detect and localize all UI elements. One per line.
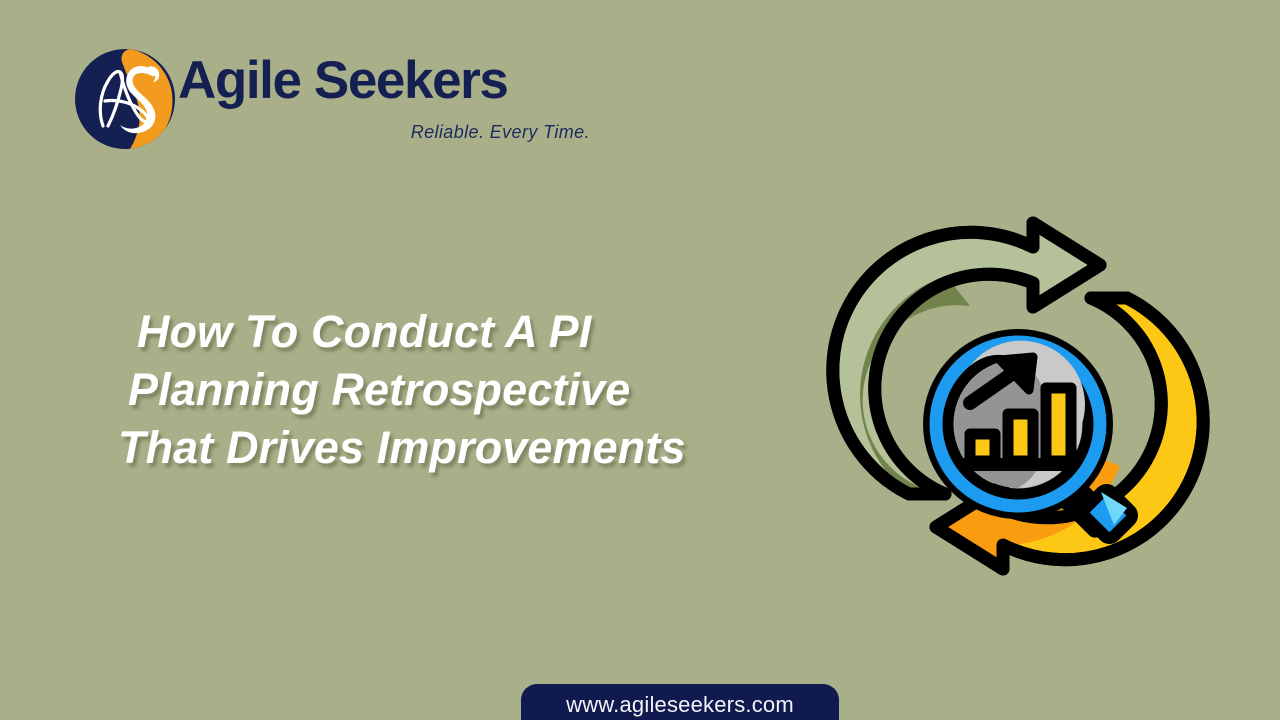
headline-line-2: Planning Retrospective xyxy=(104,361,744,419)
headline-line-3: That Drives Improvements xyxy=(104,419,744,477)
website-url-pill[interactable]: www.agileseekers.com xyxy=(521,684,839,720)
brand-tagline: Reliable. Every Time. xyxy=(178,122,590,143)
brand-name: Agile Seekers xyxy=(178,50,507,112)
brand-logo-lockup[interactable]: Agile Seekers Reliable. Every Time. xyxy=(74,44,534,156)
headline-line-1: How To Conduct A PI xyxy=(104,303,744,361)
banner-canvas: Agile Seekers Reliable. Every Time. How … xyxy=(0,0,1280,720)
as-monogram-circle-logo-icon xyxy=(74,48,176,150)
website-url-text: www.agileseekers.com xyxy=(566,692,794,718)
refresh-cycle-magnifier-bar-chart-icon xyxy=(818,176,1218,616)
headline: How To Conduct A PI Planning Retrospecti… xyxy=(104,303,744,477)
